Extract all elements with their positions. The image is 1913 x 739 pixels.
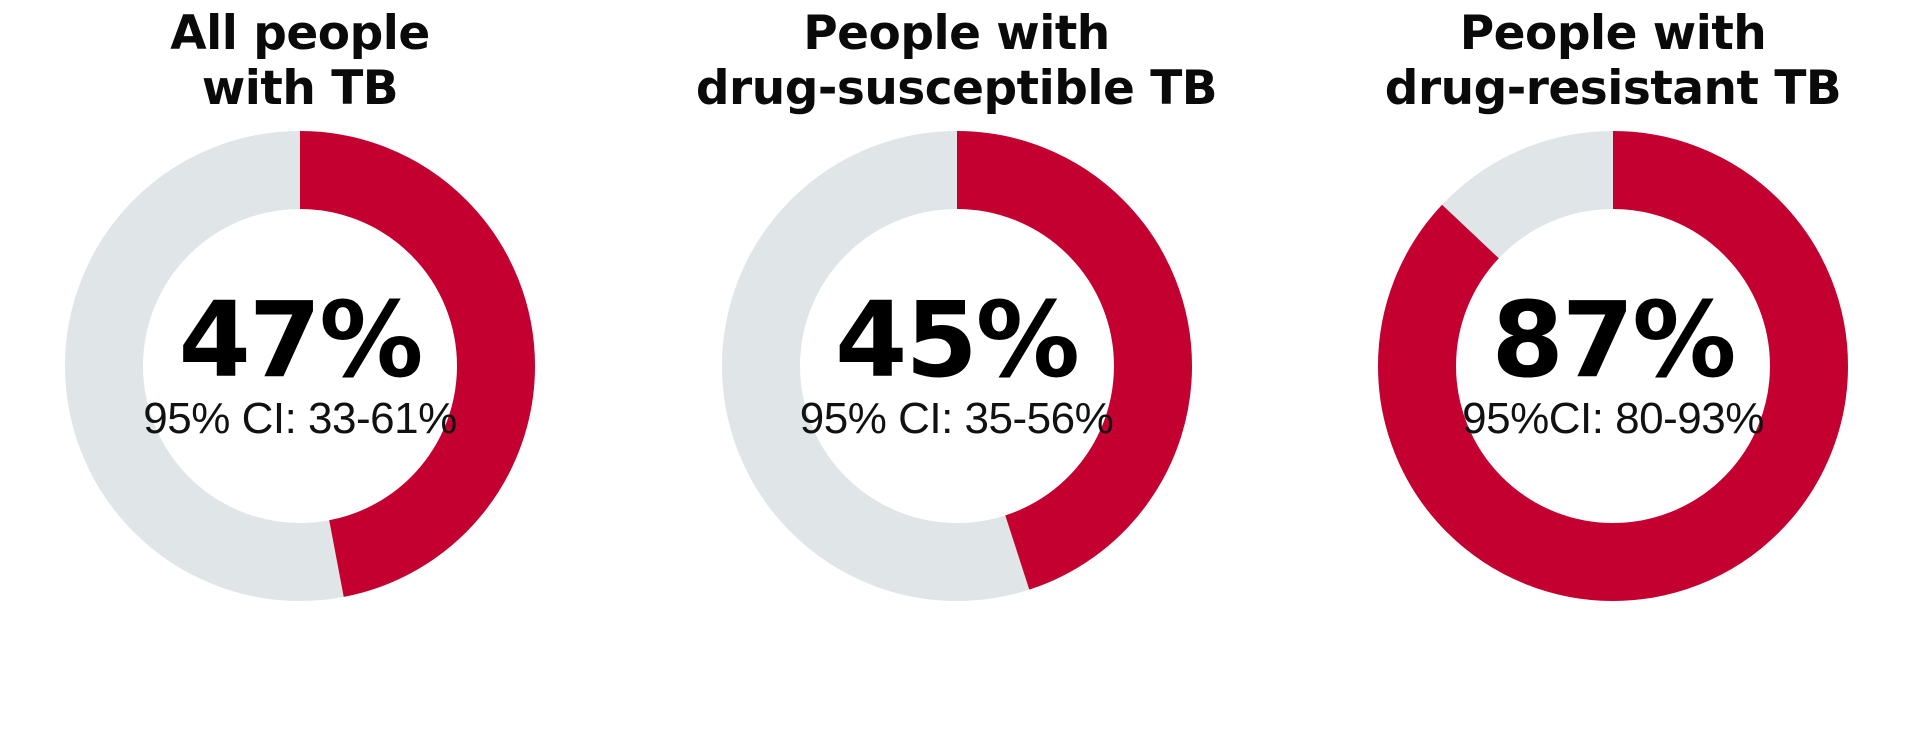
donut-panel-people-with-drug-susceptible-tb: People with drug-susceptible TB 45% 95% … [657, 0, 1257, 739]
donut-svg [60, 126, 540, 606]
donut-chart-figure: All people with TB 47% 95% CI: 33-61% Pe… [0, 0, 1913, 739]
donut-panel-people-with-drug-resistant-tb: People with drug-resistant TB 87% 95%CI:… [1313, 0, 1913, 739]
donut-chart: 47% 95% CI: 33-61% [60, 126, 540, 606]
panel-title: People with drug-resistant TB [1333, 6, 1893, 116]
donut-svg [1373, 126, 1853, 606]
donut-panel-all-people-with-tb: All people with TB 47% 95% CI: 33-61% [0, 0, 600, 739]
donut-chart: 87% 95%CI: 80-93% [1373, 126, 1853, 606]
donut-svg [717, 126, 1197, 606]
panel-title: All people with TB [20, 6, 580, 116]
donut-chart: 45% 95% CI: 35-56% [717, 126, 1197, 606]
panel-title: People with drug-susceptible TB [677, 6, 1237, 116]
